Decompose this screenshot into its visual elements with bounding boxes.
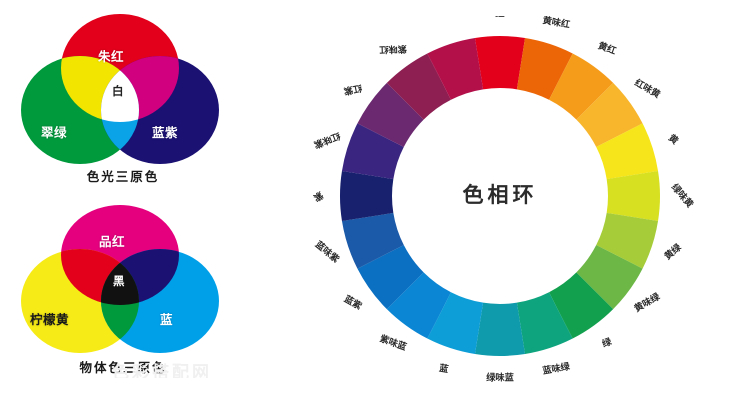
hue-segment-label: 绿味蓝 <box>486 372 514 384</box>
hue-segment-label: 紫味红 <box>379 43 407 56</box>
additive-primaries-venn: 朱红 翠绿 蓝紫 白 色光三原色 <box>8 14 238 189</box>
hue-segment-label: 蓝味紫 <box>313 238 342 265</box>
subtractive-venn-svg <box>8 205 238 355</box>
hue-segment <box>475 36 525 89</box>
hue-segment-label: 红 <box>495 16 504 20</box>
hue-segment-label: 蓝味绿 <box>542 360 572 377</box>
hue-segment <box>607 171 660 221</box>
additive-venn-stage: 朱红 翠绿 蓝紫 白 <box>8 14 238 164</box>
hue-segment <box>475 303 525 356</box>
hue-segment-label: 黄味绿 <box>632 290 663 314</box>
color-theory-diagram: 朱红 翠绿 蓝紫 白 色光三原色 <box>0 0 750 400</box>
hue-segment-label: 紫 <box>311 189 325 204</box>
hue-segment-label: 红味黄 <box>633 77 663 101</box>
additive-venn-svg <box>8 14 238 164</box>
hue-segment-label: 蓝紫 <box>342 293 364 313</box>
hue-segment-label: 黄味红 <box>542 16 571 31</box>
watermark-text: 色彩搭配网 <box>112 358 442 378</box>
hue-segment-label: 黄绿 <box>662 241 684 262</box>
hue-segment-label: 红紫 <box>343 82 363 97</box>
subtractive-venn-stage: 品红 柠檬黄 蓝 黑 <box>8 205 238 355</box>
hue-segment <box>340 171 393 221</box>
hue-segment-label: 红味紫 <box>312 130 342 151</box>
hue-segment-label: 黄红 <box>596 40 617 58</box>
hue-segment-label: 绿味黄 <box>669 181 696 210</box>
hue-wheel-center-title: 色相环 <box>463 183 538 207</box>
hue-color-wheel: 红黄味红黄红红味黄黄绿味黄黄绿黄味绿绿蓝味绿绿味蓝蓝紫味蓝蓝紫蓝味紫紫红味紫红紫… <box>250 16 750 386</box>
hue-wheel-svg: 红黄味红黄红红味黄黄绿味黄黄绿黄味绿绿蓝味绿绿味蓝蓝紫味蓝蓝紫蓝味紫紫红味紫红紫… <box>250 16 750 386</box>
hue-segment-label: 绿 <box>600 335 613 350</box>
additive-caption: 色光三原色 <box>8 166 238 185</box>
hue-segment-label: 黄 <box>666 132 681 147</box>
hue-segment-label: 紫味蓝 <box>378 332 408 353</box>
